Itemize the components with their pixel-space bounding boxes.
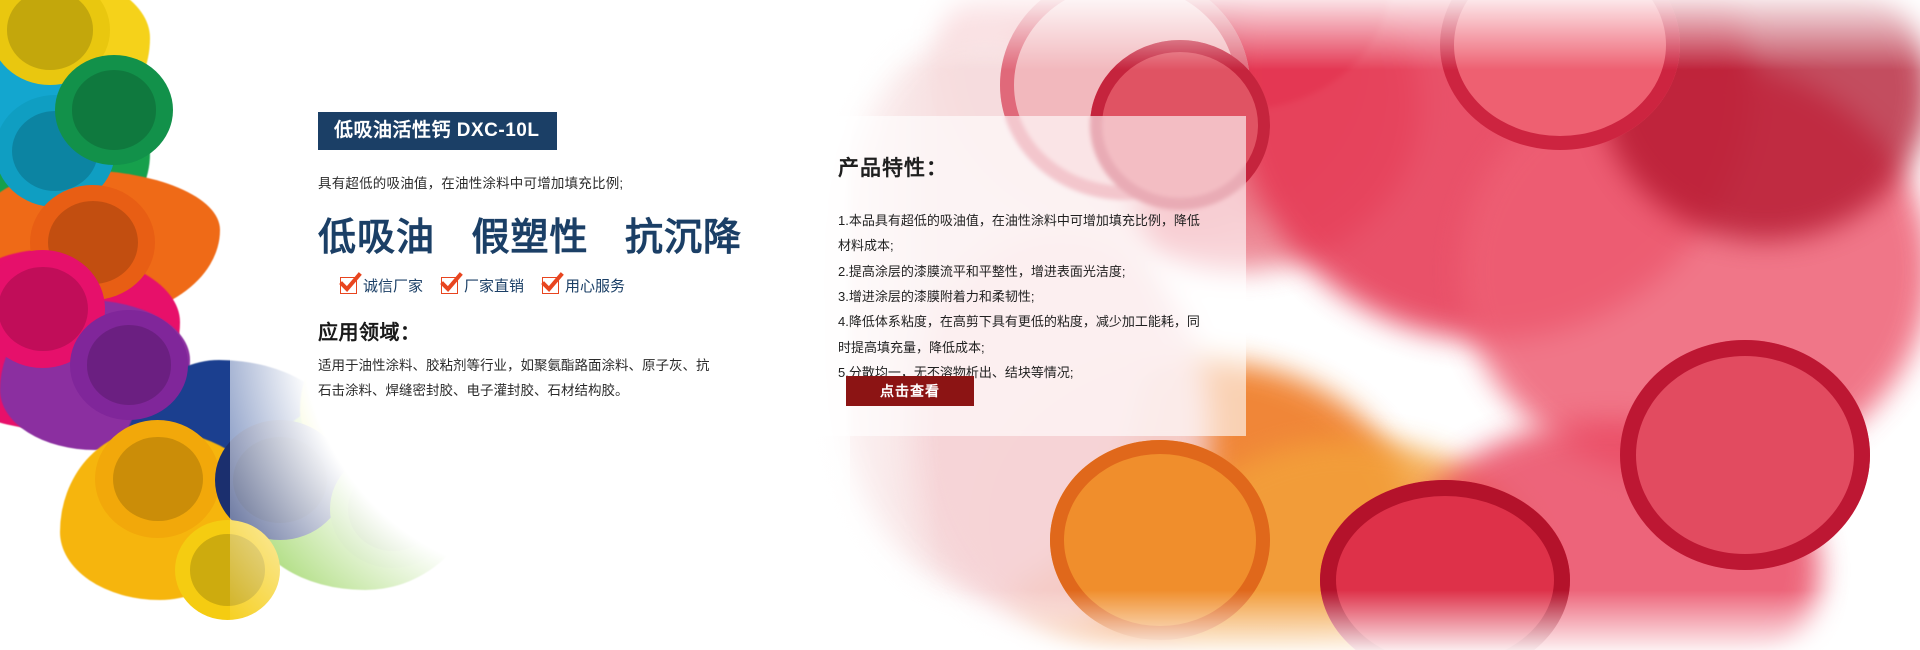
paint-pot-teal bbox=[0, 95, 115, 207]
left-content-block: 低吸油活性钙 DXC-10L 具有超低的吸油值，在油性涂料中可增加填充比例; 低… bbox=[318, 112, 738, 404]
paint-streak-yellow bbox=[0, 0, 150, 140]
feature-item-2: 2.提高涂层的漆膜流平和平整性，增进表面光洁度; bbox=[838, 259, 1212, 284]
checkbox-checked-icon bbox=[542, 277, 559, 294]
paint-wash-deep-red bbox=[1600, 0, 1920, 240]
product-lead-text: 具有超低的吸油值，在油性涂料中可增加填充比例; bbox=[318, 172, 738, 192]
paint-streak-green bbox=[0, 90, 150, 250]
paint-wash-amber-bottom bbox=[1160, 440, 1540, 650]
artwork-top-fade bbox=[760, 0, 1920, 70]
feature-item-4: 4.降低体系粘度，在高剪下具有更低的粘度，减少加工能耗，同时提高填充量，降低成本… bbox=[838, 309, 1212, 360]
trust-badge-2: 厂家直销 bbox=[441, 275, 524, 296]
paint-wash-red-top bbox=[1090, 0, 1390, 110]
paint-dish-right-top bbox=[1440, 0, 1680, 150]
product-keywords: 低吸油 假塑性 抗沉降 bbox=[318, 206, 738, 261]
checkbox-checked-icon bbox=[340, 277, 357, 294]
feature-item-3: 3.增进涂层的漆膜附着力和柔韧性; bbox=[838, 284, 1212, 309]
paint-wash-rose-bottom bbox=[1400, 420, 1820, 650]
application-section-title: 应用领域： bbox=[318, 316, 738, 345]
trust-badge-3-label: 用心服务 bbox=[565, 275, 625, 296]
trust-badges: 诚信厂家 厂家直销 用心服务 bbox=[340, 275, 738, 296]
paint-dish-far-right bbox=[1620, 340, 1870, 570]
paint-dish-orange bbox=[1050, 440, 1270, 640]
keyword-3: 抗沉降 bbox=[625, 217, 742, 259]
paint-streak-orange bbox=[0, 170, 220, 320]
artwork-bottom-fade bbox=[760, 590, 1920, 650]
trust-badge-1-label: 诚信厂家 bbox=[363, 275, 423, 296]
view-details-button[interactable]: 点击查看 bbox=[846, 376, 974, 406]
paint-wash-pink-right bbox=[1460, 60, 1920, 480]
features-panel-title: 产品特性： bbox=[838, 152, 1212, 182]
paint-wash-red-big bbox=[1230, 0, 1750, 340]
trust-badge-3: 用心服务 bbox=[542, 275, 625, 296]
features-list: 1.本品具有超低的吸油值，在油性涂料中可增加填充比例，降低材料成本; 2.提高涂… bbox=[838, 208, 1212, 385]
keyword-2: 假塑性 bbox=[472, 217, 589, 259]
paint-pot-yellow bbox=[0, 0, 110, 85]
keyword-1: 低吸油 bbox=[318, 217, 435, 259]
paint-pot-orange bbox=[30, 185, 155, 300]
product-banner: 低吸油活性钙 DXC-10L 具有超低的吸油值，在油性涂料中可增加填充比例; 低… bbox=[0, 0, 1920, 650]
product-title-badge: 低吸油活性钙 DXC-10L bbox=[318, 112, 557, 150]
paint-streak-cyan bbox=[0, 40, 110, 160]
feature-item-1: 1.本品具有超低的吸油值，在油性涂料中可增加填充比例，降低材料成本; bbox=[838, 208, 1212, 259]
checkbox-checked-icon bbox=[441, 277, 458, 294]
trust-badge-2-label: 厂家直销 bbox=[464, 275, 524, 296]
paint-dish-right-crimson bbox=[1320, 480, 1570, 650]
paint-pot-purple bbox=[70, 310, 188, 420]
paint-streak-purple bbox=[0, 300, 190, 450]
paint-pot-amber bbox=[95, 420, 220, 538]
paint-streak-magenta bbox=[0, 250, 180, 430]
paint-pot-green bbox=[55, 55, 173, 165]
paint-pot-pink bbox=[0, 250, 105, 368]
trust-badge-1: 诚信厂家 bbox=[340, 275, 423, 296]
application-section-body: 适用于油性涂料、胶粘剂等行业，如聚氨酯路面涂料、原子灰、抗石击涂料、焊缝密封胶、… bbox=[318, 354, 718, 404]
